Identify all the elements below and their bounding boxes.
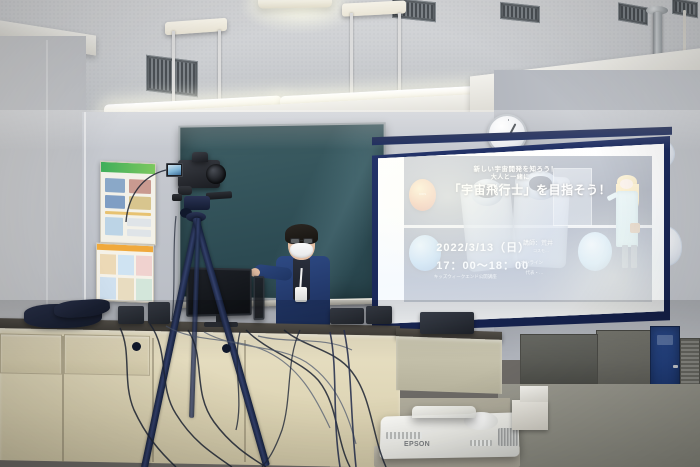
slide-fee-label: 代表・… — [526, 270, 544, 276]
projector-vent — [498, 428, 518, 446]
presenter-face-mask — [290, 243, 313, 258]
slide-speaker-label: 講師：荒井 — [523, 238, 553, 247]
badge-label: KIDS — [409, 192, 436, 196]
desk-cabinet-door[interactable] — [64, 334, 150, 376]
presentation-slide: KIDS 新しい宇宙開発を知ろう！ 大人と一緒に 「宇宙飛行士」を目指そう！ 2… — [378, 142, 664, 324]
storage-cabinet — [520, 334, 598, 384]
projector-sticker — [470, 440, 492, 446]
projector-brand-label: EPSON — [404, 441, 430, 448]
desk-equipment — [118, 306, 144, 324]
pendant-light-rod — [350, 13, 353, 95]
desk-bag — [420, 312, 474, 334]
pendant-light-rod — [172, 31, 175, 107]
white-equipment-box — [512, 400, 548, 430]
wall-corner — [46, 40, 48, 340]
slide-series-label: キッズウィークエンド公開講座 — [434, 274, 497, 280]
desk-monitor-secondary[interactable] — [253, 276, 264, 321]
back-counter-front — [396, 336, 502, 394]
pendant-light-rod — [398, 13, 401, 93]
tripod-leg-lock[interactable] — [222, 344, 231, 353]
projector-control-panel[interactable] — [386, 432, 422, 439]
slide-headline-main: 「宇宙飛行士」を目指そう！ — [449, 181, 612, 198]
pendant-light-rod — [218, 30, 221, 104]
dslr-camera-viewfinder — [192, 152, 208, 162]
pendant-fluorescent-light — [258, 0, 332, 9]
presenter-id-card — [295, 287, 307, 302]
desk-equipment — [330, 308, 364, 324]
slide-speaker-role: コスモ… — [533, 248, 549, 254]
dslr-camera-lens — [206, 164, 226, 184]
microphone-mount — [172, 194, 182, 201]
tripod-leg-lock[interactable] — [132, 342, 141, 351]
desk-cabinet-door[interactable] — [0, 333, 62, 374]
wall-poster-lower — [96, 243, 154, 304]
presenter-glasses-bridge — [300, 240, 304, 241]
slide-headline-small2: 大人と一緒に — [491, 172, 530, 181]
slide-event-date: 2022/3/13（日） — [436, 239, 530, 255]
desk-equipment — [366, 306, 392, 324]
screenshot-root: KIDS 新しい宇宙開発を知ろう！ 大人と一緒に 「宇宙飛行士」を目指そう！ 2… — [0, 0, 700, 467]
desk-equipment — [148, 302, 170, 324]
storage-cabinet — [596, 330, 654, 392]
wall-poster-upper — [100, 161, 156, 245]
white-equipment-box — [520, 386, 548, 402]
slide-online-label: オンライン — [521, 260, 544, 266]
slide-event-time: 17：00〜18：00 — [436, 257, 529, 273]
projection-screen: KIDS 新しい宇宙開発を知ろう！ 大人と一緒に 「宇宙飛行士」を目指そう！ 2… — [378, 142, 664, 324]
projector-top-cover — [412, 406, 476, 418]
camera-flip-screen[interactable] — [166, 163, 183, 177]
